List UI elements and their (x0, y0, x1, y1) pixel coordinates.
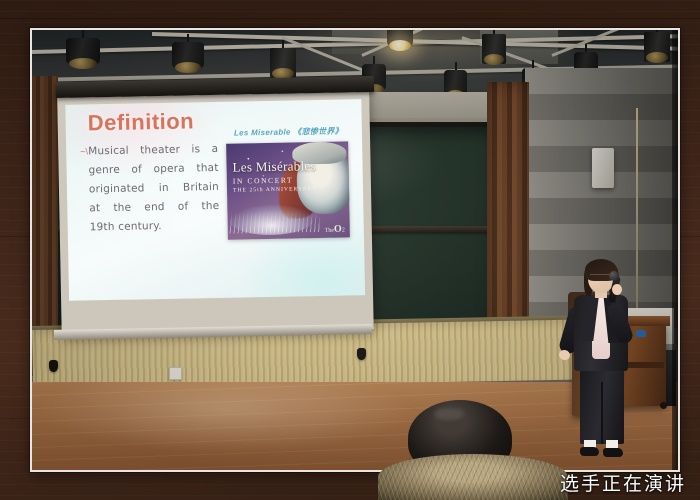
presenter-shoe (603, 448, 623, 457)
poster-title-line2: IN CONCERT (233, 175, 319, 186)
poster-title-block: Les Misérables IN CONCERT THE 25th ANNIV… (232, 158, 319, 194)
presentation-slide: Definition ~\ Musical theater is a genre… (65, 99, 365, 301)
wall-hook (357, 348, 366, 360)
presenter-trouser-seam (601, 382, 603, 444)
presenter-right-hand (612, 284, 622, 295)
slide-body-text: Musical theater is a genre of opera that… (88, 140, 220, 237)
power-outlet (169, 367, 182, 380)
slide-body-line: originated in Britain (89, 178, 219, 199)
presenter (568, 262, 640, 464)
slide-body-line: genre of opera that (88, 159, 218, 180)
microphone-head (609, 271, 619, 281)
slide-bullet-marker: ~\ (80, 146, 88, 156)
les-miserables-poster: Les Misérables IN CONCERT THE 25th ANNIV… (226, 141, 350, 239)
presenter-shoe (580, 447, 599, 456)
wall-speaker (592, 148, 614, 188)
o2-logo-sub: 2 (342, 228, 345, 234)
curtain-right (487, 82, 529, 352)
slide-body-line: 19th century. (90, 216, 220, 237)
poster-title-line1: Les Misérables (232, 158, 318, 176)
caption-text: 选手正在演讲 (560, 469, 686, 496)
slide-image-caption: Les Miserable 《悲惨世界》 (234, 126, 343, 139)
wall-hook (49, 360, 58, 372)
caption-bar: 选手正在演讲 (0, 464, 700, 500)
o2-logo-prefix: The (325, 228, 334, 234)
photo-right-shadow (672, 30, 678, 470)
photo-frame: Definition ~\ Musical theater is a genre… (30, 28, 680, 472)
o2-venue-logo: TheO2 (325, 224, 345, 235)
backdrop-plank-seam (0, 18, 700, 19)
slide-body-line: at the end of the (89, 197, 219, 218)
podium-castor (660, 402, 667, 409)
photo-content: Definition ~\ Musical theater is a genre… (32, 30, 678, 470)
slide-body-line: Musical theater is a (88, 140, 218, 161)
slide-title: Definition (87, 108, 194, 136)
audience-hair-highlight (434, 408, 464, 420)
screenshot-root: Definition ~\ Musical theater is a genre… (0, 0, 700, 500)
projector-screen: Definition ~\ Musical theater is a genre… (57, 81, 374, 335)
o2-logo-mark: O (334, 224, 342, 235)
